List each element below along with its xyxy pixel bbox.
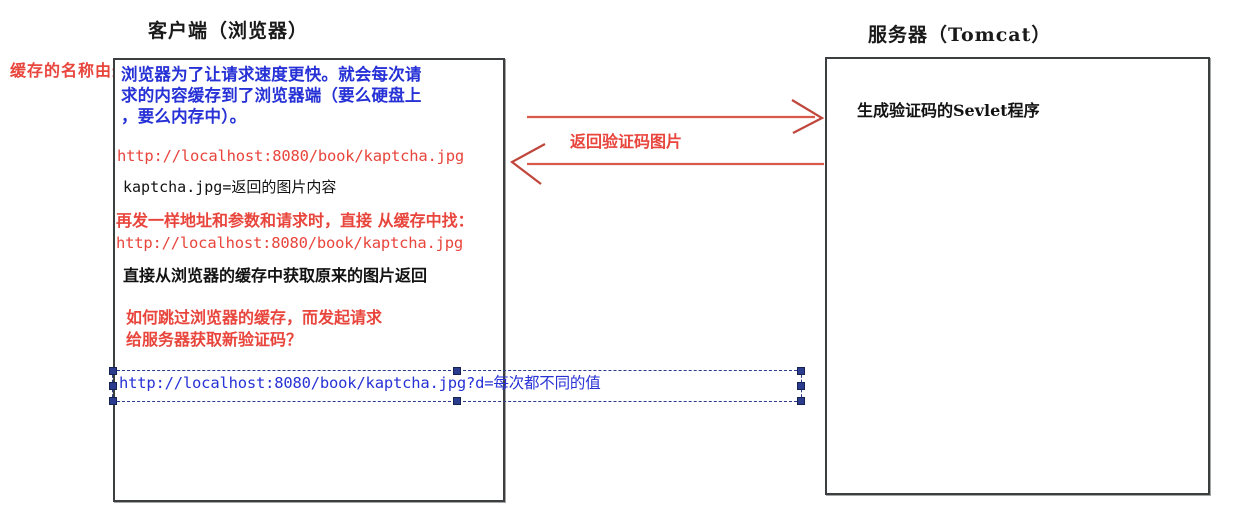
resend-url-text: http://localhost:8080/book/kaptcha.jpg <box>116 234 463 254</box>
client-title: 客户端（浏览器） <box>148 16 308 43</box>
resize-handle-top-right[interactable] <box>797 367 805 375</box>
resize-handle-bottom-left[interactable] <box>109 397 117 405</box>
resize-handle-bottom-right[interactable] <box>797 397 805 405</box>
resize-handle-middle-left[interactable] <box>109 382 117 390</box>
servlet-label: 生成验证码的Sevlet程序 <box>857 101 1040 121</box>
selected-url-text: http://localhost:8080/book/kaptcha.jpg?d… <box>119 374 601 394</box>
server-title: 服务器（Tomcat） <box>868 20 1051 47</box>
diagram-canvas: 客户端（浏览器） 服务器（Tomcat） 缓存的名称由最后的资源名和参数组成 浏… <box>0 0 1246 516</box>
resize-handle-middle-right[interactable] <box>797 382 805 390</box>
request-arrow <box>527 100 822 133</box>
from-cache-text: 直接从浏览器的缓存中获取原来的图片返回 <box>123 266 427 286</box>
cache-naming-note: 缓存的名称由最后的资源名和参数组成 <box>10 60 106 83</box>
resend-note-text: 再发一样地址和参数和请求时，直接 从缓存中找： <box>116 211 474 231</box>
cache-explanation-text: 浏览器为了让请求速度更快。就会每次请 求的内容缓存到了浏览器端（要么硬盘上 ，要… <box>121 64 493 127</box>
resize-handle-bottom-middle[interactable] <box>453 397 461 405</box>
response-arrow-label: 返回验证码图片 <box>570 132 682 152</box>
server-box <box>825 57 1210 495</box>
cached-url-text: http://localhost:8080/book/kaptcha.jpg <box>117 147 464 167</box>
question-note-text: 如何跳过浏览器的缓存，而发起请求 给服务器获取新验证码？ <box>126 307 382 350</box>
kaptcha-mapping-text: kaptcha.jpg=返回的图片内容 <box>123 178 336 197</box>
resize-handle-top-left[interactable] <box>109 367 117 375</box>
